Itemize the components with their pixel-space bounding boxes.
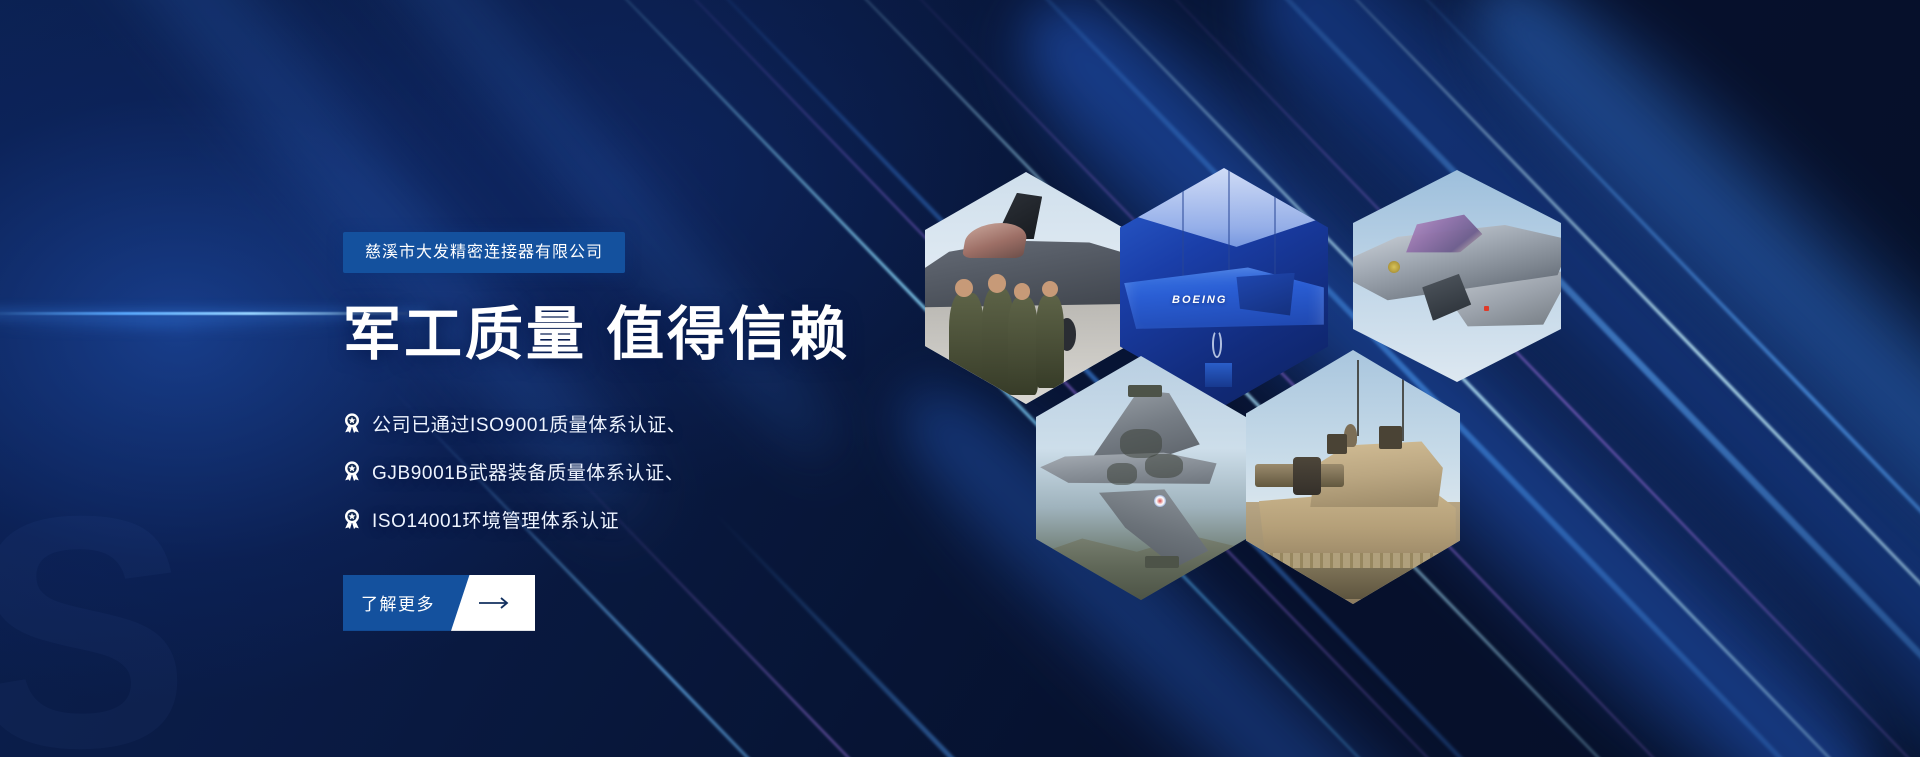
horizontal-beam-glow [0,318,360,328]
support-crate [1205,363,1232,387]
arrow-right-icon [469,575,521,631]
lifting-hook [1212,330,1222,359]
learn-more-button[interactable]: 了解更多 [343,575,535,631]
tank-mantlet [1293,457,1321,495]
list-item: GJB9001B武器装备质量体系认证、 [343,458,1103,485]
tank-optics [1327,434,1346,454]
learn-more-label: 了解更多 [361,575,435,631]
decorative-ghost-glyph: S [0,467,200,757]
glow-wedge-3 [1415,0,1920,757]
weapon-pylon [1145,556,1179,568]
medal-icon [343,461,361,481]
jet-roundel [1154,495,1166,507]
camouflage-patch [1107,463,1136,485]
tank-antenna [1357,360,1359,436]
list-item: ISO14001环境管理体系认证 [343,506,1103,533]
tank-optics [1379,426,1403,449]
list-item-label: ISO14001环境管理体系认证 [372,506,619,533]
camouflage-patch [1145,454,1183,478]
medal-icon [343,509,361,529]
list-item: 公司已通过ISO9001质量体系认证、 [343,410,1103,437]
boeing-logo-text: BOEING [1172,294,1227,306]
hero-banner: S [0,0,1920,757]
list-item-label: 公司已通过ISO9001质量体系认证、 [372,410,686,437]
tank-antenna [1402,370,1404,441]
page-title: 军工质量 值得信赖 [343,305,1103,366]
navigation-light [1484,306,1489,311]
list-item-label: GJB9001B武器装备质量体系认证、 [372,458,684,485]
certification-list: 公司已通过ISO9001质量体系认证、 GJB9001B武器装备质量体系认证、 [343,410,1103,533]
hero-content: 慈溪市大发精密连接器有限公司 军工质量 值得信赖 公司已通过ISO9001质量体… [343,232,1103,631]
weapon-pylon [1128,385,1162,397]
light-streak [1340,0,1920,757]
medal-icon [343,413,361,433]
glow-wedge-2 [1167,0,1920,757]
company-name-badge: 慈溪市大发精密连接器有限公司 [343,232,625,273]
aircraft-flap [1236,273,1294,316]
